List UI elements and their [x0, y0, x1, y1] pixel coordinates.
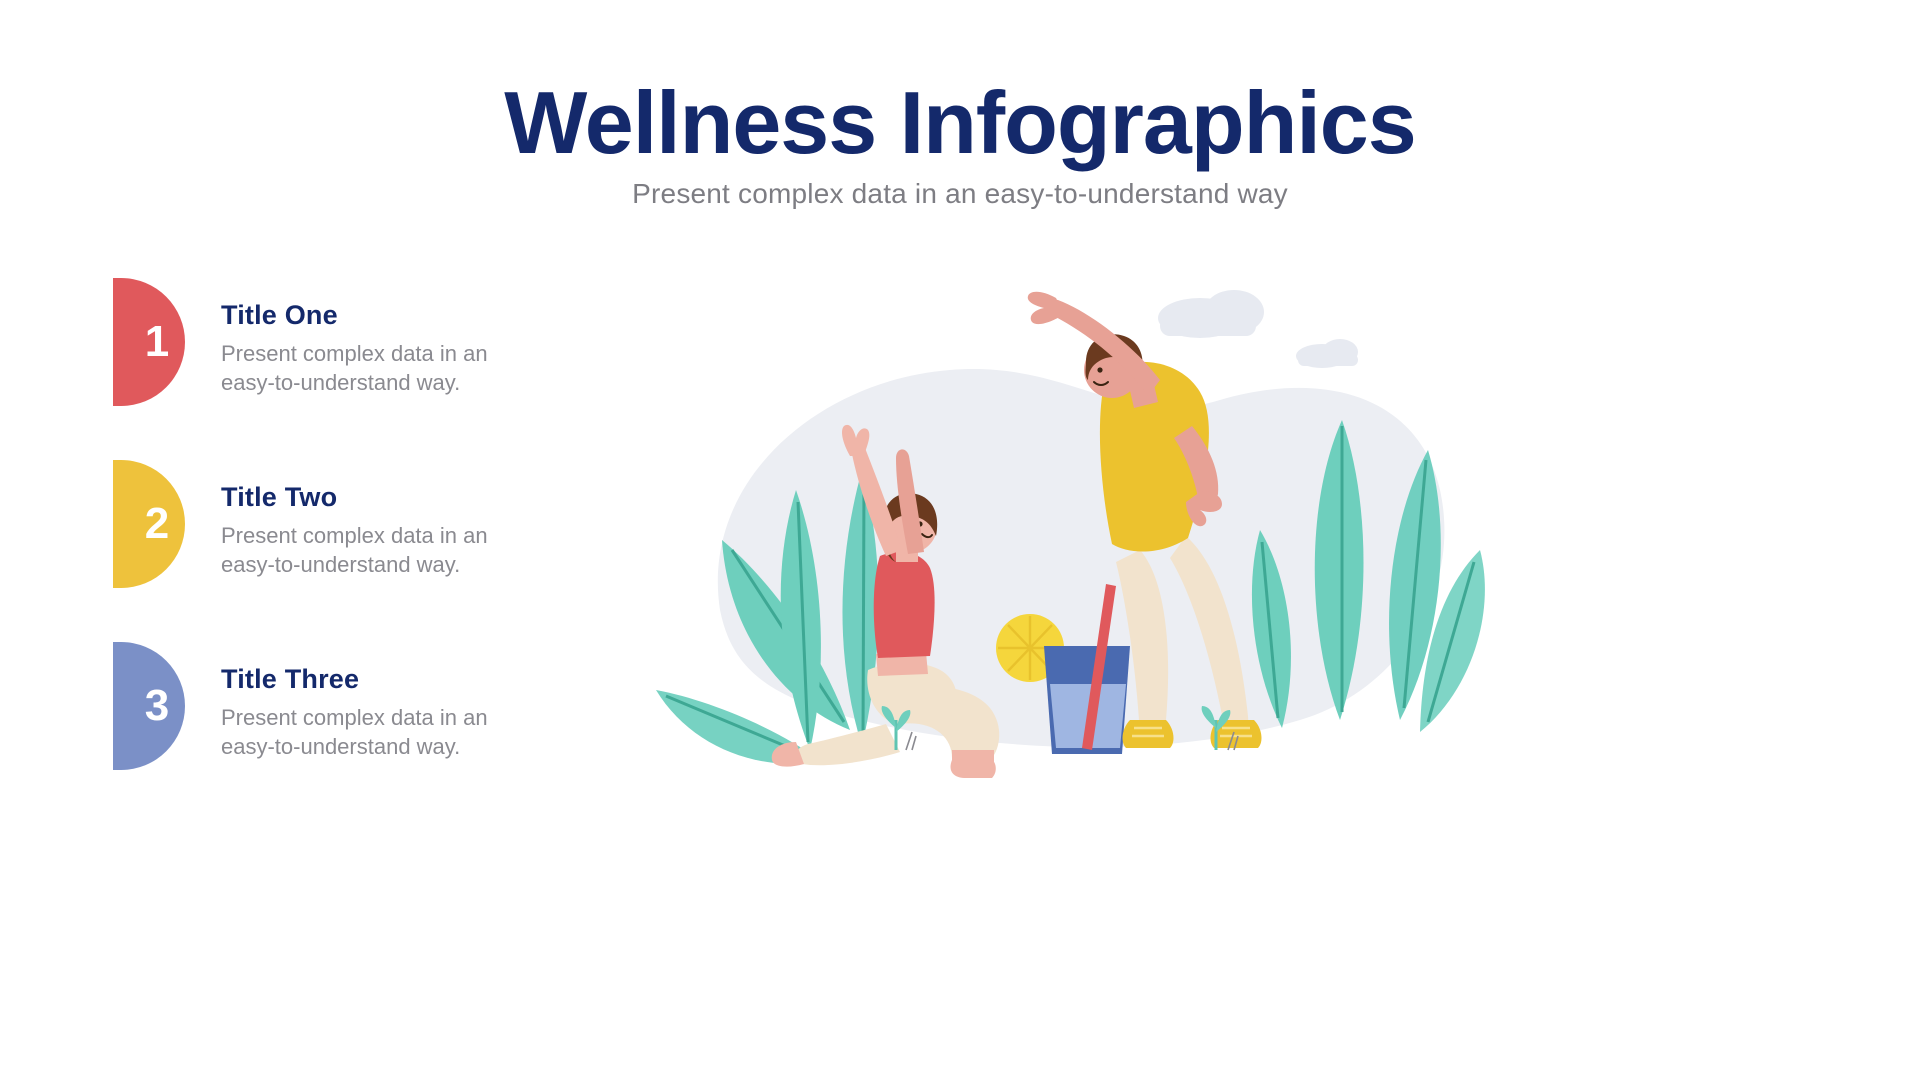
page-subtitle: Present complex data in an easy-to-under…: [0, 178, 1920, 210]
man-shoe-left: [1123, 720, 1174, 748]
slide-header: Wellness Infographics Present complex da…: [0, 78, 1920, 210]
woman-front-foot: [951, 760, 996, 778]
list-item[interactable]: 2 Title Two Present complex data in an e…: [113, 460, 633, 642]
list-item-title: Title Two: [221, 482, 621, 513]
badge-number: 3: [145, 681, 169, 731]
woman-top: [874, 552, 935, 658]
list-item-text: Title Three Present complex data in an e…: [221, 664, 621, 761]
list-item-text: Title Two Present complex data in an eas…: [221, 482, 621, 579]
list-item[interactable]: 1 Title One Present complex data in an e…: [113, 278, 633, 460]
man-hand-overhead: [1028, 292, 1064, 324]
badge-number: 1: [145, 317, 169, 367]
list-item-text: Title One Present complex data in an eas…: [221, 300, 621, 397]
list-item[interactable]: 3 Title Three Present complex data in an…: [113, 642, 633, 824]
numbered-list: 1 Title One Present complex data in an e…: [113, 278, 633, 824]
list-item-title: Title Three: [221, 664, 621, 695]
badge-number: 2: [145, 499, 169, 549]
page-title: Wellness Infographics: [0, 78, 1920, 168]
wellness-illustration: [600, 250, 1500, 810]
number-badge-2: 2: [113, 460, 185, 588]
cloud-icon-small: [1296, 339, 1358, 368]
list-item-description: Present complex data in an easy-to-under…: [221, 339, 521, 397]
list-item-title: Title One: [221, 300, 621, 331]
man-eye: [1097, 367, 1102, 372]
number-badge-3: 3: [113, 642, 185, 770]
list-item-description: Present complex data in an easy-to-under…: [221, 521, 521, 579]
slide-canvas: Wellness Infographics Present complex da…: [0, 0, 1920, 1080]
cloud-icon-large: [1158, 290, 1264, 338]
list-item-description: Present complex data in an easy-to-under…: [221, 703, 521, 761]
number-badge-1: 1: [113, 278, 185, 406]
